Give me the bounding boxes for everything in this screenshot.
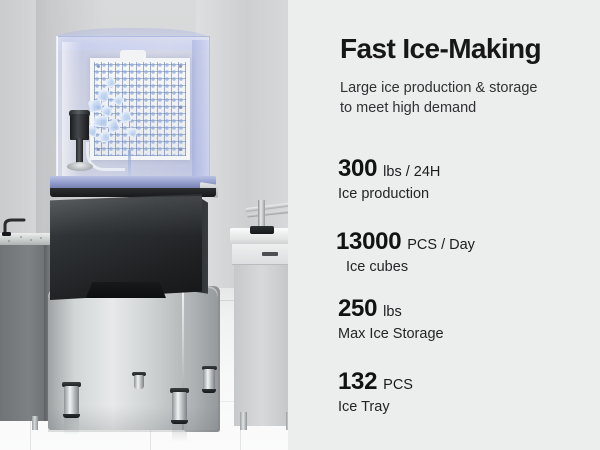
spec-unit: lbs (383, 304, 402, 320)
sink-drawer (232, 244, 288, 265)
adjustable-leg (172, 392, 187, 422)
sink-drawer-handle (262, 252, 278, 256)
adjustable-leg-rear (203, 369, 215, 391)
cabinet-leg (32, 416, 38, 430)
spec-ice-production: 300 lbs / 24H Ice production (338, 155, 440, 202)
faucet-right-base (250, 226, 274, 234)
hood-edge (56, 36, 58, 184)
page-subtitle: Large ice production & storage to meet h… (340, 78, 590, 118)
spec-ice-tray: 132 PCS Ice Tray (338, 368, 413, 415)
subtitle-line-2: to meet high demand (340, 98, 590, 118)
adjustable-leg-rear (134, 375, 144, 389)
spec-description: Ice production (338, 186, 440, 202)
sink-cabinet (234, 258, 288, 426)
bin-door-sheen (50, 196, 202, 236)
faucet-left-icon (2, 216, 28, 236)
leg-reflection (64, 418, 79, 436)
water-stream (128, 150, 131, 176)
hood-right-side (192, 40, 210, 186)
pump-body (70, 114, 89, 140)
spec-max-ice-storage: 250 lbs Max Ice Storage (338, 295, 444, 342)
ice-cube (99, 131, 110, 142)
spec-unit: PCS / Day (407, 237, 475, 253)
evaporator-tab (120, 50, 146, 61)
spec-value: 300 (338, 155, 377, 183)
spec-ice-cubes: 13000 PCS / Day Ice cubes (336, 228, 475, 275)
infographic-root: Fast Ice-Making Large ice production & s… (0, 0, 600, 450)
leg-reflection (172, 424, 187, 442)
leg-foot (202, 389, 216, 393)
pump-base (67, 162, 93, 171)
pump-stem (76, 138, 83, 164)
spec-value: 250 (338, 295, 377, 323)
page-title: Fast Ice-Making (340, 33, 541, 65)
spec-description: Max Ice Storage (338, 326, 444, 342)
spec-panel: Fast Ice-Making Large ice production & s… (288, 0, 600, 450)
spec-value: 13000 (336, 228, 401, 256)
bin-door-handle (86, 282, 166, 298)
adjustable-leg (64, 386, 79, 416)
ice-machine (42, 36, 222, 426)
product-photo (0, 0, 288, 450)
sink-leg (240, 412, 247, 430)
spec-value: 132 (338, 368, 377, 396)
spec-unit: lbs / 24H (383, 164, 440, 180)
spec-description: Ice Tray (338, 399, 413, 415)
spec-unit: PCS (383, 377, 413, 393)
spec-description: Ice cubes (346, 259, 475, 275)
subtitle-line-1: Large ice production & storage (340, 78, 590, 98)
